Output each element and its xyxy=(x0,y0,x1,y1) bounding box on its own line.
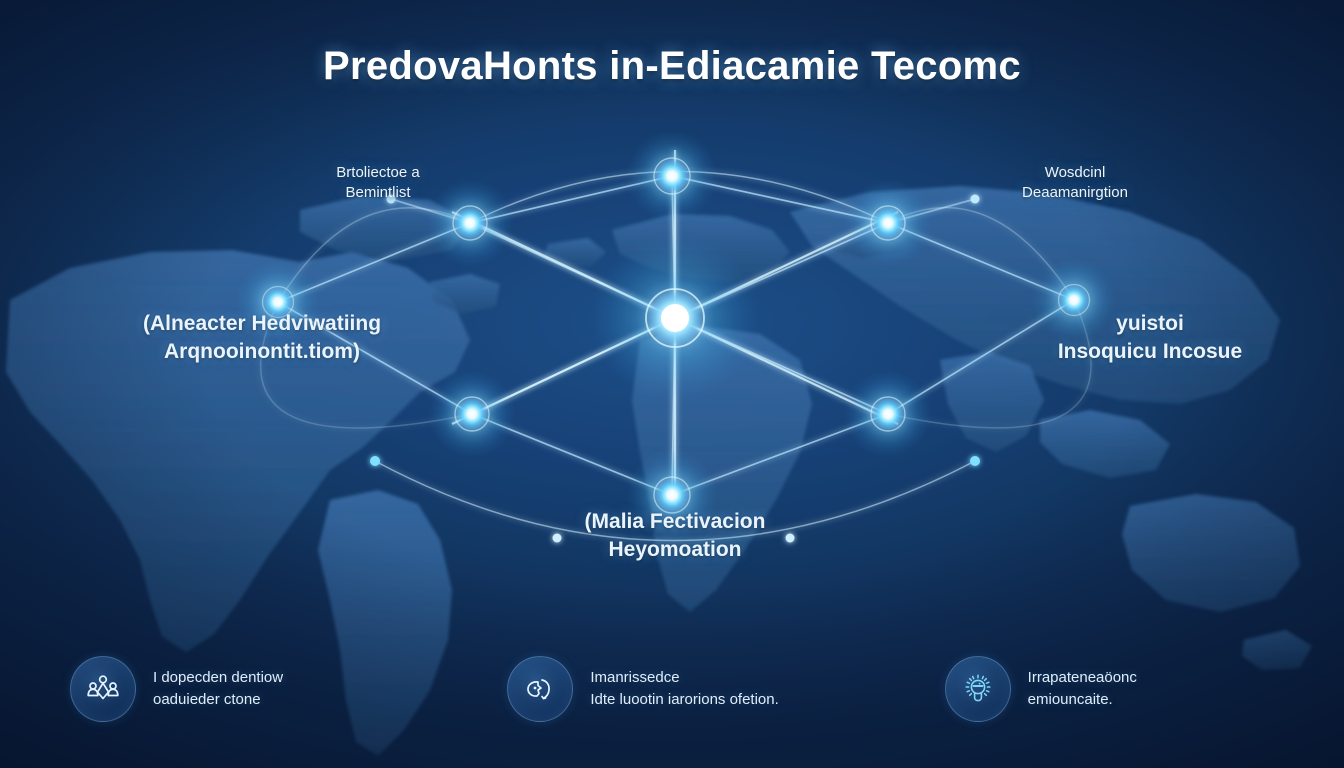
legend-line1: Imanrissedce xyxy=(590,667,778,689)
node-label-left-main: (Alneacter Hedviwatiing Arqnooinontit.ti… xyxy=(112,310,412,367)
legend-text-collaboration: I dopecden dentiow oaduieder ctone xyxy=(153,667,283,711)
legend-item-insight[interactable]: Imanrissedce Idte luootin iarorions ofet… xyxy=(507,656,836,722)
legend-row: I dopecden dentiow oaduieder ctone Imanr… xyxy=(0,656,1344,722)
node-label-bottom-main: (Malia Fectivacion Heyomoation xyxy=(530,508,820,565)
node-label-line2: Heyomoation xyxy=(530,536,820,564)
legend-text-insight: Imanrissedce Idte luootin iarorions ofet… xyxy=(590,667,778,711)
node-label-line1: Brtoliectoe a xyxy=(268,163,488,183)
node-label-top-right: Wosdcinl Deaamanirgtion xyxy=(960,163,1190,204)
legend-line2: Idte luootin iarorions ofetion. xyxy=(590,689,778,711)
node-label-line2: Insoquicu Incosue xyxy=(1000,338,1300,366)
node-label-top-left: Brtoliectoe a Bemintlist xyxy=(268,163,488,204)
legend-text-innovation: Irrapateneaöonc emiouncaite. xyxy=(1028,667,1137,711)
people-group-icon xyxy=(70,656,136,722)
legend-line1: Irrapateneaöonc xyxy=(1028,667,1137,689)
legend-item-collaboration[interactable]: I dopecden dentiow oaduieder ctone xyxy=(70,656,399,722)
brain-idea-icon xyxy=(507,656,573,722)
node-label-line2: Arqnooinontit.tiom) xyxy=(112,338,412,366)
node-label-right-main: yuistoi Insoquicu Incosue xyxy=(1000,310,1300,367)
legend-line1: I dopecden dentiow xyxy=(153,667,283,689)
node-label-line2: Deaamanirgtion xyxy=(960,183,1190,203)
lightbulb-icon xyxy=(945,656,1011,722)
page-title: PredovaHonts in-Ediacamie Tecomc xyxy=(0,44,1344,89)
node-label-line2: Bemintlist xyxy=(268,183,488,203)
legend-item-innovation[interactable]: Irrapateneaöonc emiouncaite. xyxy=(945,656,1274,722)
node-label-line1: yuistoi xyxy=(1000,310,1300,338)
node-label-line1: (Malia Fectivacion xyxy=(530,508,820,536)
infographic-canvas: PredovaHonts in-Ediacamie Tecomc Brtolie… xyxy=(0,0,1344,768)
node-label-line1: (Alneacter Hedviwatiing xyxy=(112,310,412,338)
network-graph xyxy=(0,0,1344,768)
legend-line2: emiouncaite. xyxy=(1028,689,1137,711)
node-label-line1: Wosdcinl xyxy=(960,163,1190,183)
legend-line2: oaduieder ctone xyxy=(153,689,283,711)
